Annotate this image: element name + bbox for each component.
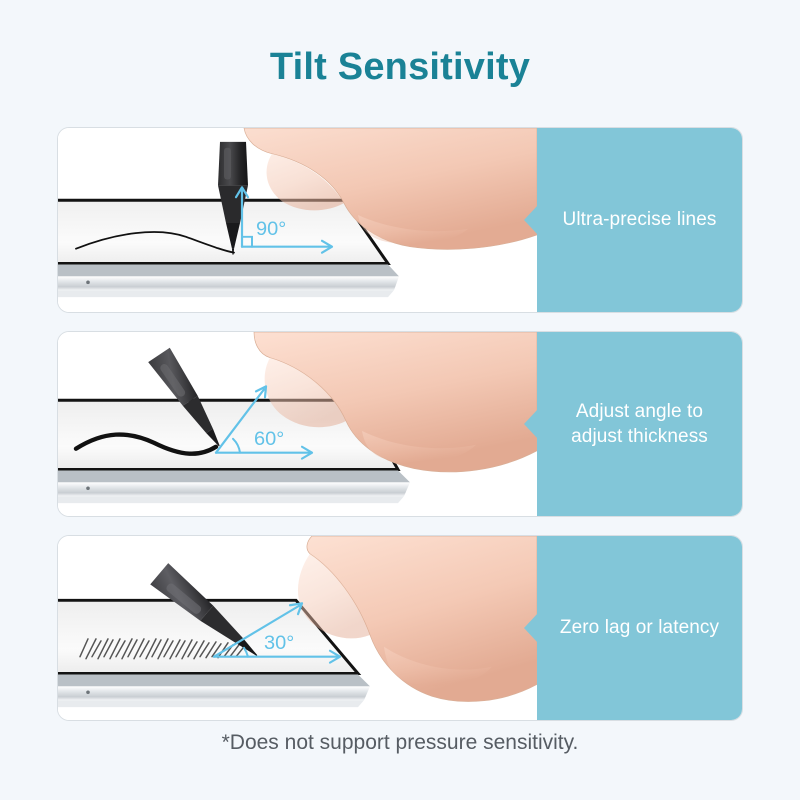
feature-label-text: Zero lag or latency [546,615,733,640]
callout-arrow-icon [524,205,538,235]
feature-panel-zero-lag: 30° Zero lag or latency [57,535,743,721]
stylus-tablet-illustration-30: 30° [58,536,537,720]
feature-panel-ultra-precise-lines: 90° Ultra-precise lines [57,127,743,313]
angle-label-60: 60° [254,428,284,450]
feature-panel-adjust-angle: 60° Adjust angle to adjust thickness [57,331,743,517]
feature-label-pane-3: Zero lag or latency [537,536,742,720]
angle-label-30: 30° [264,632,294,654]
footnote-disclaimer: *Does not support pressure sensitivity. [0,731,800,755]
callout-arrow-icon [524,613,538,643]
callout-arrow-icon [524,409,538,439]
product-photo-90-degrees: 90° [58,128,537,312]
feature-label-text: Ultra-precise lines [549,207,731,232]
feature-label-pane-2: Adjust angle to adjust thickness [537,332,742,516]
product-photo-30-degrees: 30° [58,536,537,720]
page-title: Tilt Sensitivity [0,46,800,89]
product-photo-60-degrees: 60° [58,332,537,516]
stylus-tablet-illustration-60: 60° [58,332,537,516]
feature-label-pane-1: Ultra-precise lines [537,128,742,312]
angle-label-90: 90° [256,218,286,240]
stylus-tablet-illustration-90: 90° [58,128,537,312]
feature-label-text: Adjust angle to adjust thickness [557,399,722,449]
